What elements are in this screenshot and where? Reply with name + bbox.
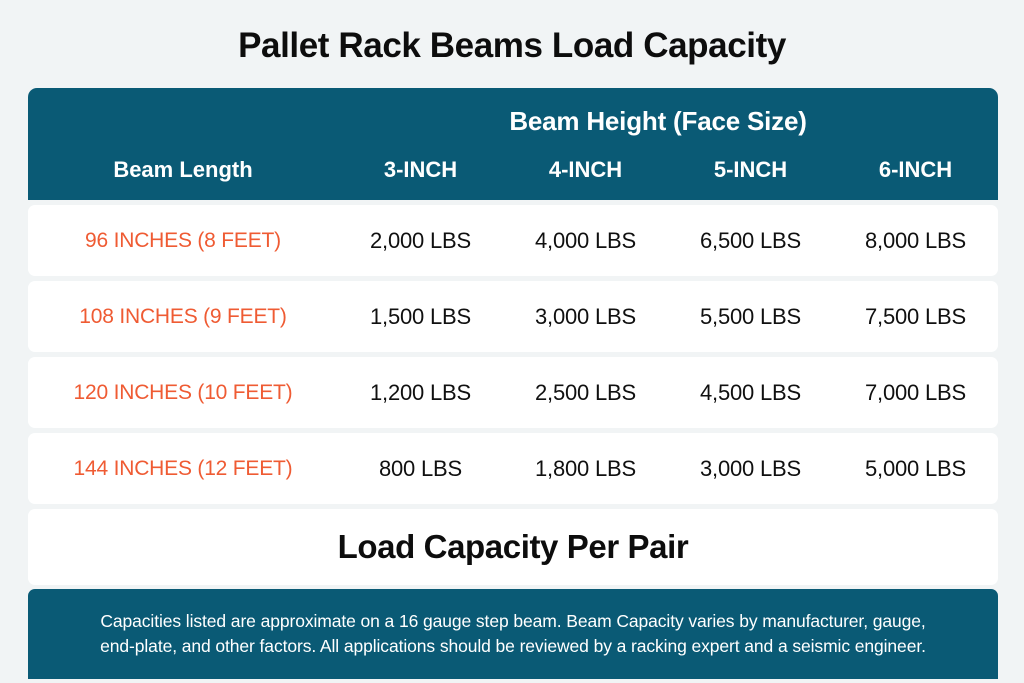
row-value: 7,000 LBS — [833, 380, 998, 406]
row-value: 7,500 LBS — [833, 304, 998, 330]
row-value: 2,000 LBS — [338, 228, 503, 254]
capacity-table: Beam Height (Face Size) Beam Length 3-IN… — [28, 88, 998, 679]
subtitle-banner: Load Capacity Per Pair — [28, 509, 998, 585]
row-value: 1,800 LBS — [503, 456, 668, 482]
table-row: 120 INCHES (10 FEET) 1,200 LBS 2,500 LBS… — [28, 357, 998, 428]
header-col-4-inch: 4-INCH — [503, 157, 668, 183]
row-label: 120 INCHES (10 FEET) — [28, 380, 338, 406]
row-value: 3,000 LBS — [668, 456, 833, 482]
disclaimer-banner: Capacities listed are approximate on a 1… — [28, 589, 998, 679]
row-label: 96 INCHES (8 FEET) — [28, 228, 338, 254]
row-value: 6,500 LBS — [668, 228, 833, 254]
disclaimer-text: Capacities listed are approximate on a 1… — [82, 609, 944, 659]
infographic-page: Pallet Rack Beams Load Capacity Beam Hei… — [0, 0, 1024, 683]
row-value: 1,500 LBS — [338, 304, 503, 330]
row-value: 4,000 LBS — [503, 228, 668, 254]
row-value: 3,000 LBS — [503, 304, 668, 330]
page-title: Pallet Rack Beams Load Capacity — [0, 24, 1024, 68]
header-col-3-inch: 3-INCH — [338, 157, 503, 183]
row-value: 8,000 LBS — [833, 228, 998, 254]
row-value: 2,500 LBS — [503, 380, 668, 406]
row-value: 800 LBS — [338, 456, 503, 482]
column-group-header: Beam Height (Face Size) — [318, 105, 998, 137]
row-value: 4,500 LBS — [668, 380, 833, 406]
row-label: 108 INCHES (9 FEET) — [28, 304, 338, 330]
table-header: Beam Height (Face Size) Beam Length 3-IN… — [28, 88, 998, 200]
table-header-row: Beam Length 3-INCH 4-INCH 5-INCH 6-INCH — [28, 150, 998, 190]
table-row: 144 INCHES (12 FEET) 800 LBS 1,800 LBS 3… — [28, 433, 998, 504]
header-col-5-inch: 5-INCH — [668, 157, 833, 183]
row-label: 144 INCHES (12 FEET) — [28, 456, 338, 482]
row-value: 1,200 LBS — [338, 380, 503, 406]
subtitle-text: Load Capacity Per Pair — [338, 527, 689, 567]
header-col-6-inch: 6-INCH — [833, 157, 998, 183]
row-value: 5,000 LBS — [833, 456, 998, 482]
table-row: 108 INCHES (9 FEET) 1,500 LBS 3,000 LBS … — [28, 281, 998, 352]
row-value: 5,500 LBS — [668, 304, 833, 330]
header-beam-length: Beam Length — [28, 157, 338, 183]
table-row: 96 INCHES (8 FEET) 2,000 LBS 4,000 LBS 6… — [28, 205, 998, 276]
